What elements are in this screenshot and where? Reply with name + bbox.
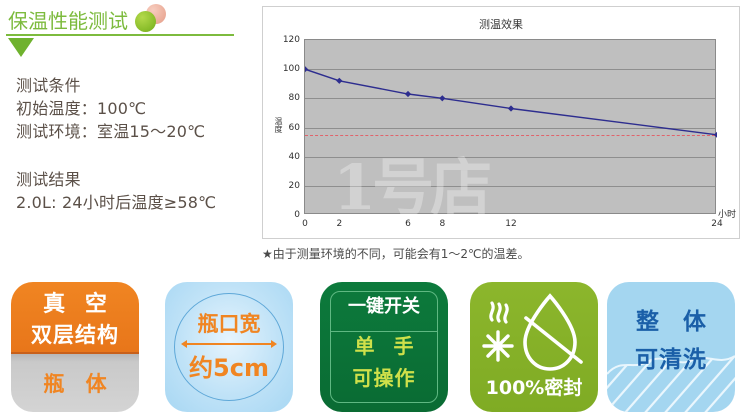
chart-y-tick-label: 80 <box>289 93 300 103</box>
chart-x-axis-label: 小时 <box>718 207 736 220</box>
vacuum-line-1: 真 空 <box>37 286 113 318</box>
chart-title: 测温效果 <box>263 16 739 32</box>
width-arrow-icon <box>181 340 277 348</box>
logo-green-circle-icon <box>135 11 156 32</box>
initial-temperature-line: 初始温度：100℃ <box>16 97 205 120</box>
feature-one-touch-switch[interactable]: 一键开关 单 手 可操作 <box>320 282 448 412</box>
no-leak-drop-icon <box>478 290 590 382</box>
chart-x-tick-label: 12 <box>505 219 516 229</box>
switch-line-1: 一键开关 <box>320 292 448 318</box>
down-triangle-icon <box>8 38 34 57</box>
chart-y-axis-label: 温度 <box>273 117 284 133</box>
chart-x-tick-label: 6 <box>405 219 411 229</box>
chart-series-line <box>305 40 717 215</box>
chart-x-tick-label: 2 <box>336 219 342 229</box>
test-conditions-block: 测试条件 初始温度：100℃ 测试环境：室温15～20℃ <box>16 74 205 143</box>
mouth-width-line-1: 瓶口宽 <box>165 308 293 338</box>
chart-y-tick-label: 40 <box>289 152 300 162</box>
switch-line-2: 单 手 <box>320 330 448 359</box>
washable-line-1: 整 体 <box>607 302 735 336</box>
chart-x-tick-label: 8 <box>439 219 445 229</box>
chart-x-tick-label: 0 <box>302 219 308 229</box>
chart-y-tick-label: 100 <box>283 64 300 74</box>
sealed-label: 100%密封 <box>470 373 598 400</box>
bottle-body-label: 瓶 体 <box>36 368 113 398</box>
chart-plot-area: 1号店 020406080100120 02681224 <box>304 39 716 214</box>
switch-line-3: 可操作 <box>320 362 448 391</box>
chart-y-tick-label: 20 <box>289 181 300 191</box>
results-heading: 测试结果 <box>16 168 216 191</box>
vacuum-line-2: 双层结构 <box>31 319 119 349</box>
vacuum-top-section: 真 空 双层结构 <box>11 282 139 354</box>
chart-footnote: ★由于测量环境的不同，可能会有1～2℃的温差。 <box>262 245 530 262</box>
header-divider <box>6 34 234 36</box>
result-value-line: 2.0L: 24小时后温度≥58℃ <box>16 191 216 214</box>
product-feature-page: 保温性能测试 测试条件 初始温度：100℃ 测试环境：室温15～20℃ 测试结果… <box>0 0 747 414</box>
vacuum-bottom-section: 瓶 体 <box>11 354 139 412</box>
chart-y-tick-label: 120 <box>283 35 300 45</box>
brand-circles-logo <box>134 4 166 34</box>
feature-washable[interactable]: 整 体 可清洗 <box>607 282 735 412</box>
washable-line-2: 可清洗 <box>607 340 735 374</box>
chart-y-tick-label: 0 <box>294 210 300 220</box>
chart-y-tick-label: 60 <box>289 123 300 133</box>
test-environment-line: 测试环境：室温15～20℃ <box>16 120 205 143</box>
feature-vacuum-double-layer[interactable]: 真 空 双层结构 瓶 体 <box>11 282 139 412</box>
chart-x-tick-label: 24 <box>711 219 722 229</box>
conditions-heading: 测试条件 <box>16 74 205 97</box>
feature-badges: 真 空 双层结构 瓶 体 瓶口宽 约5cm 一键开关 单 手 可操作 <box>0 282 747 414</box>
temperature-chart: 测温效果 温度 1号店 020406080100120 02681224 小时 <box>262 6 740 239</box>
insulation-test-panel: 保温性能测试 测试条件 初始温度：100℃ 测试环境：室温15～20℃ 测试结果… <box>0 0 258 270</box>
feature-sealed[interactable]: 100%密封 <box>470 282 598 412</box>
mouth-width-line-2: 约5cm <box>165 348 293 383</box>
test-results-block: 测试结果 2.0L: 24小时后温度≥58℃ <box>16 168 216 214</box>
page-title: 保温性能测试 <box>8 5 128 34</box>
feature-mouth-width[interactable]: 瓶口宽 约5cm <box>165 282 293 412</box>
section-header: 保温性能测试 <box>8 4 166 34</box>
